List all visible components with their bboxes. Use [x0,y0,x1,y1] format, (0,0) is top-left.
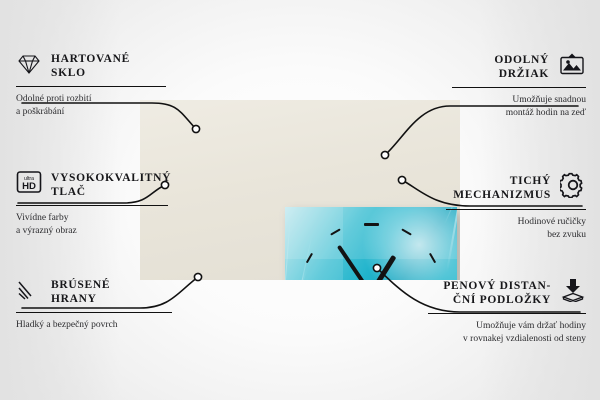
connector-dot-mechanism [398,176,405,183]
ultra-hd-badge-icon: ultra HD [16,170,42,199]
gear-icon [560,172,586,203]
feature-title: VYSOKOKVALITNÝ TLAČ [51,171,171,199]
feature-block-mechanism: TICHÝ MECHANIZMUS Hodinové ručičky bez z… [446,172,586,241]
feature-title: ODOLNÝ DRŽIAK [494,53,549,81]
picture-hanger-icon [558,52,586,81]
feature-head: ODOLNÝ DRŽIAK [452,52,586,81]
connector-dot-group [161,125,405,280]
feature-divider [452,87,586,88]
polished-edges-icon [16,279,42,306]
feature-head: BRÚSENÉ HRANY [16,278,172,306]
infographic-canvas: AA [0,0,600,400]
feature-divider [16,312,172,313]
feature-divider [16,86,166,87]
feature-description: Umožňuje vám držať hodiny v rovnakej vzd… [428,320,586,345]
diamond-icon [16,53,42,80]
feature-head: TICHÝ MECHANIZMUS [446,172,586,203]
connector-dot-hanger [381,151,388,158]
feature-head: HARTOVANÉ SKLO [16,52,166,80]
connector-dot-edges [194,273,201,280]
feature-title: HARTOVANÉ SKLO [51,52,130,80]
feature-title: PENOVÝ DISTAN- ČNÍ PODLOŽKY [443,279,551,307]
svg-text:HD: HD [22,181,36,192]
foam-pad-arrow-icon [560,278,586,307]
feature-title: BRÚSENÉ HRANY [51,278,110,306]
feature-description: Hladký a bezpečný povrch [16,319,172,332]
feature-divider [428,313,586,314]
feature-title: TICHÝ MECHANIZMUS [453,174,551,202]
feature-description: Vivídne farby a výrazný obraz [16,212,168,237]
feature-head: ultra HD VYSOKOKVALITNÝ TLAČ [16,170,168,199]
feature-block-print: ultra HD VYSOKOKVALITNÝ TLAČ Vivídne far… [16,170,168,237]
feature-divider [16,205,168,206]
feature-block-hanger: ODOLNÝ DRŽIAK Umožňuje snadnou montáž ho… [452,52,586,119]
feature-head: PENOVÝ DISTAN- ČNÍ PODLOŽKY [428,278,586,307]
feature-block-glass: HARTOVANÉ SKLO Odolné proti rozbití a po… [16,52,166,118]
feature-block-edges: BRÚSENÉ HRANY Hladký a bezpečný povrch [16,278,172,332]
feature-description: Hodinové ručičky bez zvuku [446,216,586,241]
connector-dot-glass [192,125,199,132]
feature-description: Umožňuje snadnou montáž hodin na zeď [452,94,586,119]
feature-block-spacer: PENOVÝ DISTAN- ČNÍ PODLOŽKY Umožňuje vám… [428,278,586,345]
feature-description: Odolné proti rozbití a poškrábání [16,93,166,118]
feature-divider [446,209,586,210]
connector-dot-spacer [373,264,380,271]
